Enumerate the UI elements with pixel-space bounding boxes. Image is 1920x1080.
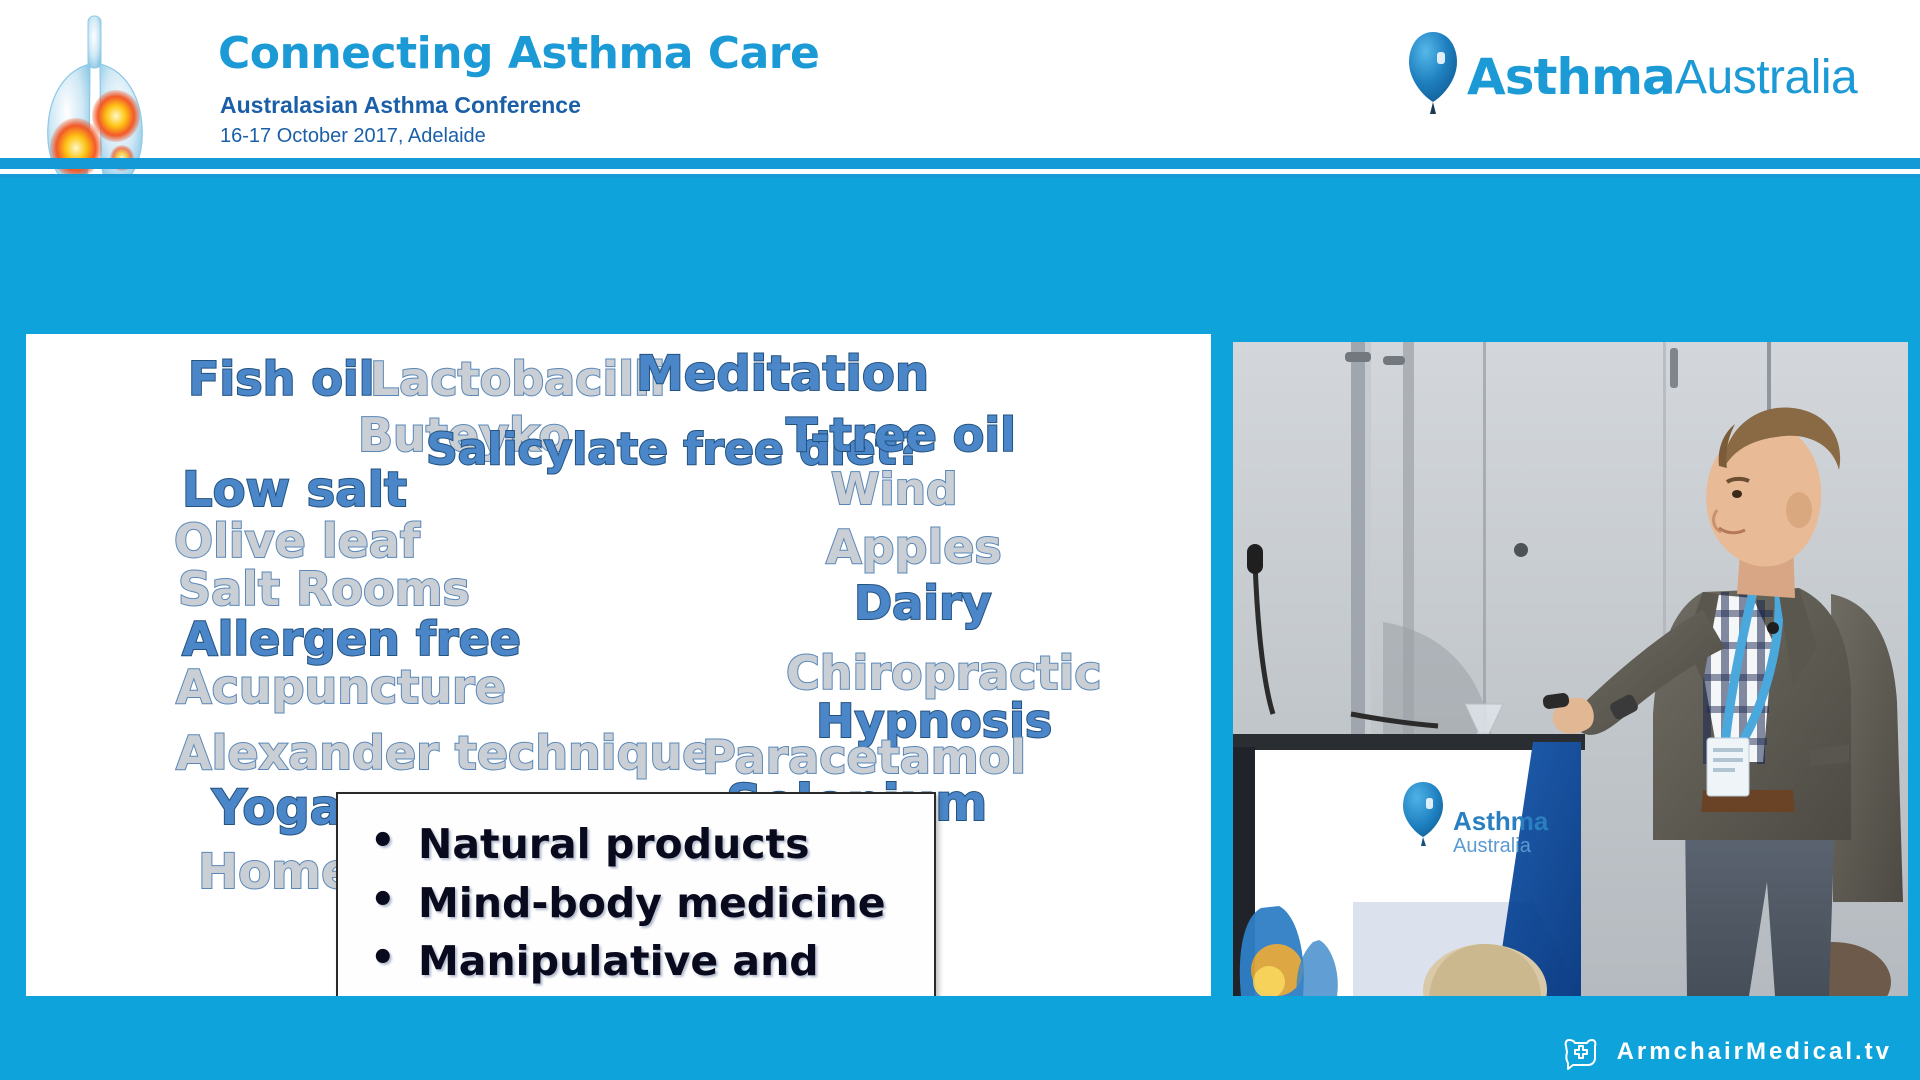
callout-item: Natural products (360, 816, 922, 873)
callout-list: Natural productsMind-body medicineManipu… (338, 816, 934, 996)
conference-subtitle: Australasian Asthma Conference (220, 92, 581, 119)
org-name-bold: Asthma (1467, 48, 1675, 106)
word-cloud-term: Meditation (636, 350, 929, 398)
word-cloud-term: Chiropractic (786, 650, 1102, 696)
word-cloud-term: Olive leaf (174, 518, 420, 564)
word-cloud-term: Salt Rooms (178, 566, 470, 612)
speaker-video-panel[interactable]: Asthma Australia (1233, 342, 1908, 996)
conference-date: 16-17 October 2017, Adelaide (220, 125, 486, 148)
armchair-medical-brand[interactable]: ArmchairMedical.tv (1561, 1032, 1892, 1072)
org-name-light: Australia (1675, 50, 1857, 105)
word-cloud-term: Dairy (854, 580, 992, 626)
balloon-icon (1405, 30, 1461, 116)
word-cloud-term: Low salt (182, 466, 407, 514)
callout-item: body-based practices (360, 986, 922, 996)
word-cloud-term: Wind (831, 468, 957, 512)
callout-item: Mind-body medicine (360, 875, 922, 932)
word-cloud-term: Yoga (212, 784, 342, 832)
word-cloud-term: Apples (826, 524, 1002, 570)
lungs-icon (26, 8, 166, 198)
svg-text:Australia: Australia (1453, 835, 1532, 857)
word-cloud-term: Lactobacilli (370, 356, 666, 402)
svg-text:Asthma: Asthma (1453, 806, 1549, 836)
callout-box: Natural productsMind-body medicineManipu… (336, 792, 936, 996)
word-cloud-term: T-tree oil (786, 412, 1016, 458)
presentation-slide[interactable]: Fish oilLactobacilliMeditationButeykoSal… (26, 334, 1211, 996)
word-cloud-term: Allergen free (182, 616, 521, 662)
brand-text: ArmchairMedical.tv (1617, 1038, 1892, 1066)
callout-item: Manipulative and (360, 933, 922, 990)
footer-bar: ArmchairMedical.tv (0, 1020, 1920, 1080)
conference-title: Connecting Asthma Care (218, 28, 819, 79)
word-cloud-term: Acupuncture (176, 664, 506, 710)
conference-header: Connecting Asthma Care Australasian Asth… (0, 0, 1920, 178)
asthma-australia-logo: Asthma Australia (1405, 28, 1895, 128)
header-divider-thick (0, 158, 1920, 169)
armchair-medical-icon (1561, 1032, 1601, 1072)
word-cloud-term: Fish oil (188, 356, 374, 402)
word-cloud-term: Alexander technique (176, 730, 713, 776)
presentation-screenshot: Connecting Asthma Care Australasian Asth… (0, 0, 1920, 1080)
presenter-at-lectern-image: Asthma Australia (1233, 342, 1908, 996)
